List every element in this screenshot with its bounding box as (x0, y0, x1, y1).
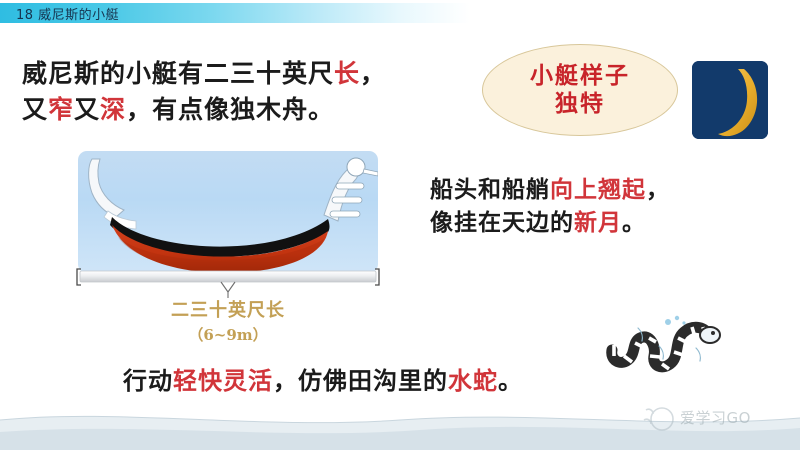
aixuexi-go-logo (640, 402, 678, 434)
watermark-text: 爱学习GO (680, 407, 751, 428)
paragraph-boat-size-line2: 又窄又深，有点像独木舟。 (22, 92, 386, 128)
text-run-highlight: 长 (334, 59, 360, 88)
gondola-caption-sub: （6~9m） (78, 324, 378, 345)
paragraph-boat-size-line1: 威尼斯的小艇有二三十英尺长， (22, 56, 386, 92)
paragraph-boat-prow-line1: 船头和船艄向上翘起， (430, 174, 670, 207)
watermark: 爱学习GO (640, 402, 790, 446)
crescent-moon-image (692, 61, 768, 139)
paragraph-boat-movement: 行动轻快灵活，仿佛田沟里的水蛇。 (123, 364, 523, 398)
text-run: 威尼斯的小艇有二三十英尺 (22, 59, 334, 88)
text-run: 。 (622, 209, 646, 236)
text-run: 船头和船艄 (430, 176, 550, 203)
text-run: 像挂在天边的 (430, 209, 574, 236)
text-run: ， (360, 59, 386, 88)
paragraph-boat-prow-line2: 像挂在天边的新月。 (430, 207, 670, 240)
crescent-moon-icon (692, 61, 768, 139)
text-run-highlight: 水蛇 (448, 366, 498, 395)
paragraph-boat-size: 威尼斯的小艇有二三十英尺长， 又窄又深，有点像独木舟。 (22, 56, 386, 127)
text-run-highlight: 轻快灵活 (173, 366, 273, 395)
text-run-highlight: 向上翘起 (550, 176, 646, 203)
gondola-boat-icon (78, 151, 378, 273)
text-run: 又 (22, 95, 48, 124)
gondola-caption-main: 二三十英尺长 (78, 296, 378, 322)
text-run: ，仿佛田沟里的 (273, 366, 448, 395)
text-run-highlight: 新月 (574, 209, 622, 236)
callout-line-1: 小艇样子 (530, 62, 630, 90)
measurement-bracket-icon (74, 268, 382, 298)
page-title: 18 威尼斯的小艇 (16, 4, 119, 23)
water-snake-illustration (604, 312, 722, 374)
paragraph-boat-prow: 船头和船艄向上翘起， 像挂在天边的新月。 (430, 174, 670, 239)
text-run: ， (646, 176, 670, 203)
text-run: 又 (74, 95, 100, 124)
text-run: 行动 (123, 366, 173, 395)
text-run: 。 (498, 366, 523, 395)
text-run-highlight: 深 (100, 95, 126, 124)
text-run: ，有点像独木舟。 (126, 95, 334, 124)
gondola-caption: 二三十英尺长 （6~9m） (78, 296, 378, 345)
slide-canvas: 18 威尼斯的小艇 威尼斯的小艇有二三十英尺长， 又窄又深，有点像独木舟。 小艇… (0, 0, 800, 450)
measurement-bracket (74, 268, 382, 298)
water-snake-icon (604, 312, 722, 374)
gondola-illustration (78, 151, 378, 273)
text-run-highlight: 窄 (48, 95, 74, 124)
callout-bubble-boat-shape: 小艇样子 独特 (482, 44, 678, 136)
gondola-sky-background (78, 151, 378, 273)
callout-line-2: 独特 (555, 90, 605, 118)
